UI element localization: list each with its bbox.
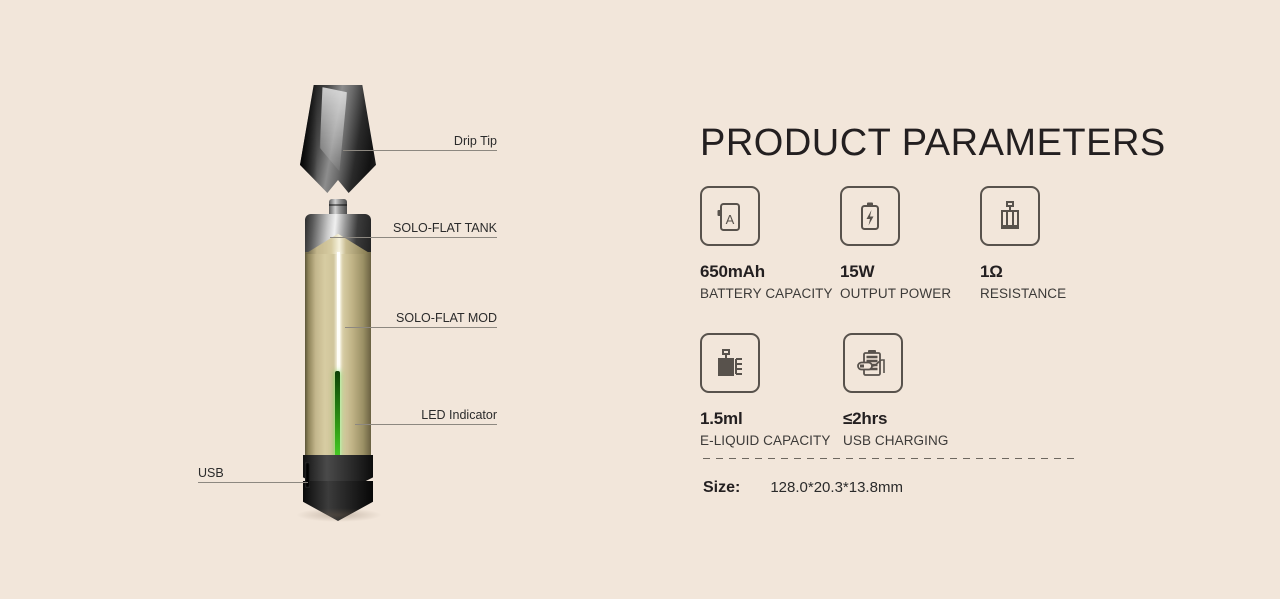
svg-text:A: A xyxy=(726,212,735,227)
callout-solo-flat-mod-label: SOLO-FLAT MOD xyxy=(396,311,497,325)
size-value: 128.0*20.3*13.8mm xyxy=(770,479,903,496)
eliquid-tank-icon xyxy=(700,333,760,393)
spec-value: ≤2hrs xyxy=(843,409,986,429)
callout-solo-flat-tank-line xyxy=(330,237,497,238)
spec-row-1: A 650mAh BATTERY CAPACITY xyxy=(700,186,1120,301)
spec-eliquid-capacity: 1.5ml E-LIQUID CAPACITY xyxy=(700,333,843,448)
callout-solo-flat-tank: SOLO-FLAT TANK xyxy=(330,220,497,238)
size-row: Size: 128.0*20.3*13.8mm xyxy=(703,479,903,497)
product-illustration: Drip Tip SOLO-FLAT TANK SOLO-FLAT MOD LE… xyxy=(0,0,640,599)
size-label: Size: xyxy=(703,479,740,497)
spec-value: 15W xyxy=(840,262,980,282)
callout-solo-flat-mod: SOLO-FLAT MOD xyxy=(345,310,497,328)
atomizer-coil-icon xyxy=(980,186,1040,246)
callout-led-indicator-line xyxy=(355,424,497,425)
spec-value: 650mAh xyxy=(700,262,840,282)
spec-caption: BATTERY CAPACITY xyxy=(700,286,840,301)
callout-drip-tip-line xyxy=(343,150,497,151)
callout-led-indicator-label: LED Indicator xyxy=(421,408,497,422)
spec-usb-charging: ≤2hrs USB CHARGING xyxy=(843,333,986,448)
usb-charging-icon xyxy=(843,333,903,393)
battery-capacity-icon: A xyxy=(700,186,760,246)
page-title: PRODUCT PARAMETERS xyxy=(700,122,1166,165)
callout-usb-label: USB xyxy=(198,466,224,480)
spec-battery-capacity: A 650mAh BATTERY CAPACITY xyxy=(700,186,840,301)
callout-usb-line xyxy=(198,482,308,483)
spec-value: 1Ω xyxy=(980,262,1120,282)
spec-value: 1.5ml xyxy=(700,409,843,429)
callout-drip-tip-label: Drip Tip xyxy=(454,134,497,148)
product-shadow xyxy=(296,508,382,522)
spec-caption: USB CHARGING xyxy=(843,433,986,448)
spec-caption: RESISTANCE xyxy=(980,286,1120,301)
drip-tip-gloss xyxy=(320,87,347,171)
spec-row-2: 1.5ml E-LIQUID CAPACITY xyxy=(700,333,1120,448)
spec-caption: E-LIQUID CAPACITY xyxy=(700,433,843,448)
parameters-panel: PRODUCT PARAMETERS A 650mAh BATTERY CAPA… xyxy=(700,0,1280,599)
spec-output-power: 15W OUTPUT POWER xyxy=(840,186,980,301)
callout-solo-flat-mod-line xyxy=(345,327,497,328)
callout-drip-tip: Drip Tip xyxy=(343,133,497,151)
spec-grid: A 650mAh BATTERY CAPACITY xyxy=(700,186,1120,448)
callout-usb: USB xyxy=(198,465,308,483)
spec-caption: OUTPUT POWER xyxy=(840,286,980,301)
section-divider xyxy=(703,458,1078,459)
callout-solo-flat-tank-label: SOLO-FLAT TANK xyxy=(393,221,497,235)
battery-bolt-icon xyxy=(840,186,900,246)
drip-tip-edge xyxy=(300,85,317,193)
callout-led-indicator: LED Indicator xyxy=(355,407,497,425)
infographic-root: Drip Tip SOLO-FLAT TANK SOLO-FLAT MOD LE… xyxy=(0,0,1280,599)
spec-resistance: 1Ω RESISTANCE xyxy=(980,186,1120,301)
